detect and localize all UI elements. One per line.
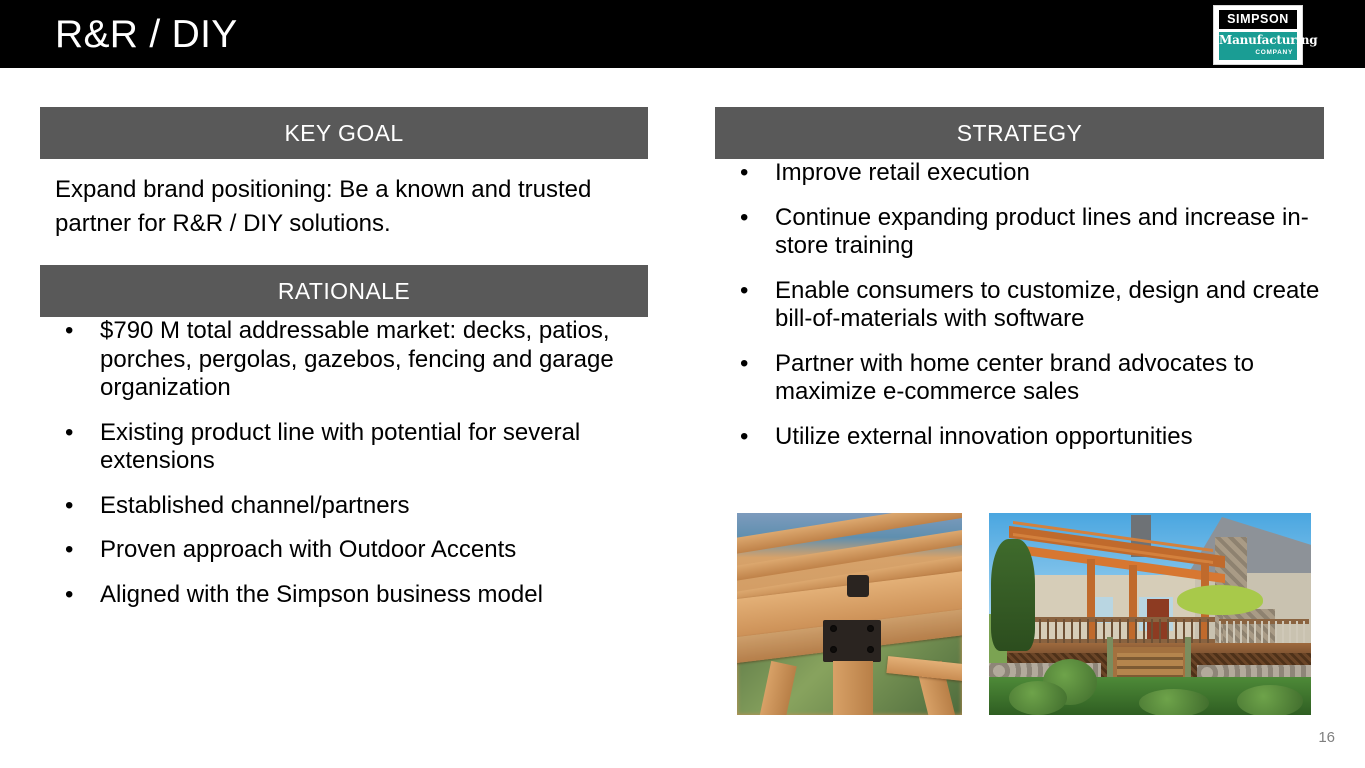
bullet-icon: • xyxy=(740,423,748,452)
page-title: R&R / DIY xyxy=(55,12,238,58)
list-item: • Partner with home center brand advocat… xyxy=(715,350,1324,407)
logo-simpson-text: SIMPSON xyxy=(1219,10,1297,29)
list-item-text: $790 M total addressable market: decks, … xyxy=(100,317,614,401)
list-item: • Enable consumers to customize, design … xyxy=(715,277,1324,334)
key-goal-body: Expand brand positioning: Be a known and… xyxy=(40,159,648,241)
list-item-text: Partner with home center brand advocates… xyxy=(775,350,1254,406)
list-item: • Existing product line with potential f… xyxy=(40,419,648,476)
bullet-icon: • xyxy=(65,317,73,346)
pergola-connector-photo xyxy=(737,513,962,715)
spacer xyxy=(40,241,648,265)
list-item-text: Established channel/partners xyxy=(100,492,410,519)
strategy-bullet-list: • Improve retail execution • Continue ex… xyxy=(715,159,1324,451)
bullet-icon: • xyxy=(65,419,73,448)
bullet-icon: • xyxy=(65,536,73,565)
bullet-icon: • xyxy=(740,159,748,188)
bullet-icon: • xyxy=(740,204,748,233)
bullet-icon: • xyxy=(740,277,748,306)
list-item-text: Improve retail execution xyxy=(775,159,1030,186)
key-goal-header: KEY GOAL xyxy=(40,107,648,159)
logo-teal-block: Manufacturing COMPANY xyxy=(1219,32,1297,60)
list-item: • Utilize external innovation opportunit… xyxy=(715,423,1324,452)
logo-company-text: COMPANY xyxy=(1219,48,1297,57)
list-item-text: Continue expanding product lines and inc… xyxy=(775,204,1309,260)
list-item: • Proven approach with Outdoor Accents xyxy=(40,536,648,565)
list-item: • Continue expanding product lines and i… xyxy=(715,204,1324,261)
list-item: • Established channel/partners xyxy=(40,492,648,521)
page-number: 16 xyxy=(1318,729,1335,746)
photo-group xyxy=(737,513,1311,715)
simpson-manufacturing-logo: SIMPSON Manufacturing COMPANY xyxy=(1213,5,1303,65)
left-column: KEY GOAL Expand brand positioning: Be a … xyxy=(40,107,648,609)
rationale-header: RATIONALE xyxy=(40,265,648,317)
bullet-icon: • xyxy=(740,350,748,379)
list-item-text: Existing product line with potential for… xyxy=(100,419,580,475)
strategy-header: STRATEGY xyxy=(715,107,1324,159)
list-item-text: Aligned with the Simpson business model xyxy=(100,581,543,608)
deck-pergola-photo xyxy=(989,513,1311,715)
list-item-text: Enable consumers to customize, design an… xyxy=(775,277,1319,333)
list-item-text: Utilize external innovation opportunitie… xyxy=(775,423,1193,450)
right-column: STRATEGY • Improve retail execution • Co… xyxy=(715,107,1324,451)
logo-manufacturing-text: Manufacturing xyxy=(1219,32,1297,48)
bullet-icon: • xyxy=(65,581,73,610)
list-item: • Improve retail execution xyxy=(715,159,1324,188)
list-item: • $790 M total addressable market: decks… xyxy=(40,317,648,403)
list-item-text: Proven approach with Outdoor Accents xyxy=(100,536,516,563)
bullet-icon: • xyxy=(65,492,73,521)
list-item: • Aligned with the Simpson business mode… xyxy=(40,581,648,610)
slide: R&R / DIY SIMPSON Manufacturing COMPANY … xyxy=(0,0,1365,768)
rationale-bullet-list: • $790 M total addressable market: decks… xyxy=(40,317,648,609)
